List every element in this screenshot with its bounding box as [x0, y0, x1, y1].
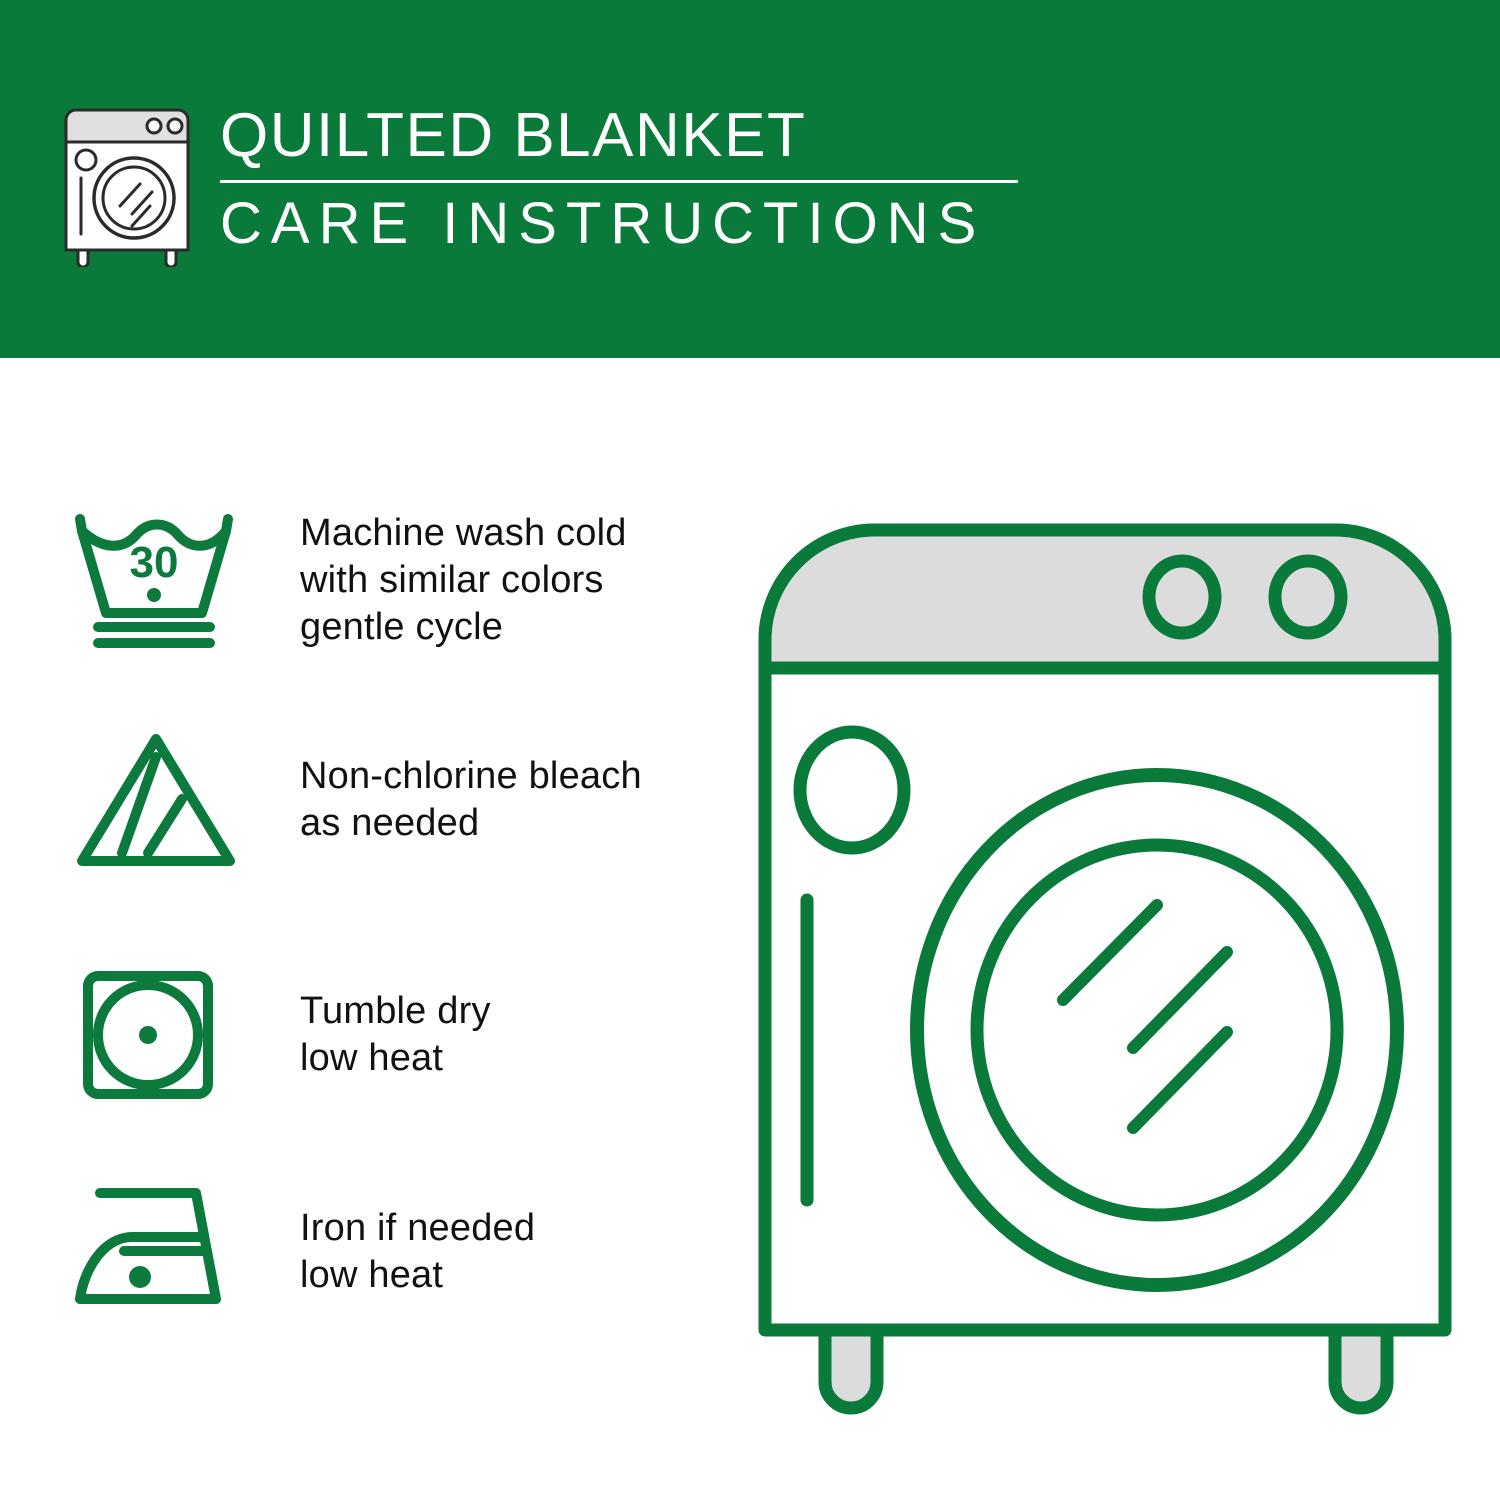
title-block: QUILTED BLANKET CARE INSTRUCTIONS: [220, 100, 1018, 255]
leg-right: [1335, 1330, 1387, 1408]
care-instructions-infographic: QUILTED BLANKET CARE INSTRUCTIONS: [0, 0, 1500, 1500]
washing-machine-illustration: [745, 500, 1465, 1430]
care-row-machine-wash: 30 Machine wash cold with similar colors…: [70, 505, 710, 655]
page-subtitle: CARE INSTRUCTIONS: [220, 193, 1018, 255]
machine-wash-30-icon: 30: [70, 505, 260, 655]
detergent-dispenser: [800, 732, 904, 848]
tumble-dry-low-icon: [70, 960, 260, 1110]
leg-left: [825, 1330, 877, 1408]
care-text-tumble-dry: Tumble dry low heat: [300, 988, 491, 1082]
non-chlorine-bleach-icon: [70, 725, 260, 875]
care-row-bleach: Non-chlorine bleach as needed: [70, 725, 710, 875]
svg-text:30: 30: [130, 538, 179, 587]
header-banner: QUILTED BLANKET CARE INSTRUCTIONS: [0, 0, 1500, 358]
control-knob-left: [1149, 561, 1215, 633]
care-text-machine-wash: Machine wash cold with similar colors ge…: [300, 510, 627, 651]
care-text-iron: Iron if needed low heat: [300, 1205, 535, 1299]
care-text-bleach: Non-chlorine bleach as needed: [300, 753, 642, 847]
iron-low-heat-icon: [70, 1177, 260, 1327]
care-row-iron: Iron if needed low heat: [70, 1177, 710, 1327]
care-row-tumble-dry: Tumble dry low heat: [70, 960, 710, 1110]
brand-washing-machine-icon: [62, 102, 192, 267]
header-content: QUILTED BLANKET CARE INSTRUCTIONS: [62, 100, 1018, 267]
page-title: QUILTED BLANKET: [220, 104, 1018, 168]
title-divider: [220, 180, 1018, 183]
control-knob-right: [1275, 561, 1341, 633]
